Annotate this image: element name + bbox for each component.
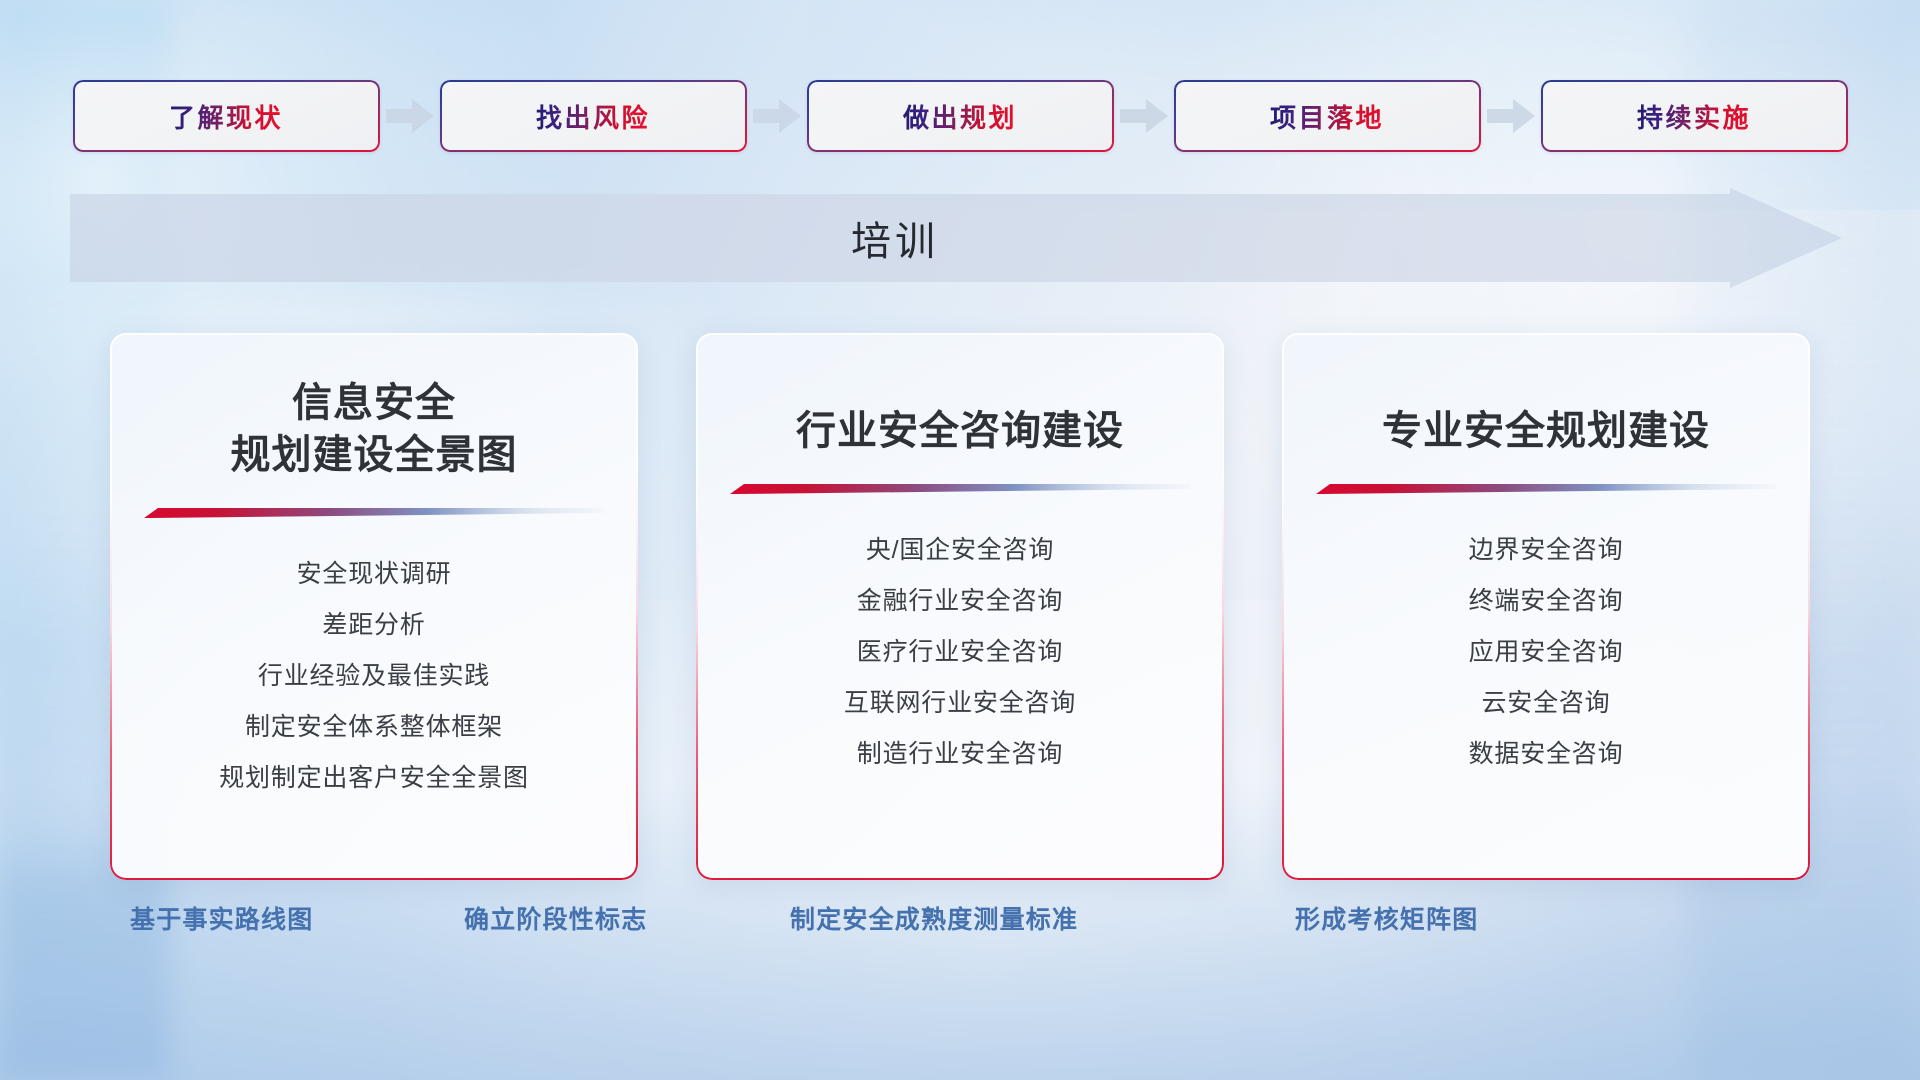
card-title-block: 专业安全规划建设 bbox=[1382, 359, 1710, 457]
card-item-list: 边界安全咨询 终端安全咨询 应用安全咨询 云安全咨询 数据安全咨询 bbox=[1308, 525, 1784, 862]
list-item: 制定安全体系整体框架 bbox=[245, 702, 503, 753]
list-item: 互联网行业安全咨询 bbox=[844, 678, 1076, 729]
card-title: 行业安全咨询建设 bbox=[796, 405, 1124, 457]
list-item: 金融行业安全咨询 bbox=[857, 576, 1063, 627]
step-box-2[interactable]: 找出风险 bbox=[440, 80, 747, 152]
list-item: 数据安全咨询 bbox=[1469, 729, 1624, 780]
step-box-4[interactable]: 项目落地 bbox=[1174, 80, 1481, 152]
step-label: 持续实施 bbox=[1637, 98, 1751, 135]
list-item: 差距分析 bbox=[322, 600, 425, 651]
step-label: 做出规划 bbox=[903, 98, 1017, 135]
step-box-3[interactable]: 做出规划 bbox=[807, 80, 1114, 152]
list-item: 终端安全咨询 bbox=[1469, 576, 1624, 627]
card-professional-security-planning[interactable]: 专业安全规划建设 bbox=[1282, 333, 1810, 880]
list-item: 边界安全咨询 bbox=[1469, 525, 1624, 576]
card-title: 信息安全 规划建设全景图 bbox=[231, 377, 518, 481]
footer-label-row: 基于事实路线图 确立阶段性标志 制定安全成熟度测量标准 形成考核矩阵图 bbox=[0, 900, 1920, 970]
list-item: 安全现状调研 bbox=[297, 549, 452, 600]
list-item: 云安全咨询 bbox=[1481, 678, 1610, 729]
card-divider bbox=[144, 505, 604, 519]
step-box-1[interactable]: 了解现状 bbox=[73, 80, 380, 152]
footer-label-4: 形成考核矩阵图 bbox=[1295, 900, 1478, 936]
step-box-5[interactable]: 持续实施 bbox=[1541, 80, 1848, 152]
step-label: 项目落地 bbox=[1270, 98, 1384, 135]
arrow-right-icon bbox=[380, 80, 440, 152]
card-row: 信息安全 规划建设全景图 bbox=[0, 333, 1920, 880]
list-item: 规划制定出客户安全全景图 bbox=[219, 753, 529, 804]
card-industry-security-consulting[interactable]: 行业安全咨询建设 bbox=[696, 333, 1224, 880]
footer-label-2: 确立阶段性标志 bbox=[464, 900, 647, 936]
card-title-block: 行业安全咨询建设 bbox=[796, 359, 1124, 457]
card-item-list: 安全现状调研 差距分析 行业经验及最佳实践 制定安全体系整体框架 规划制定出客户… bbox=[136, 549, 612, 862]
card-information-security-blueprint[interactable]: 信息安全 规划建设全景图 bbox=[110, 333, 638, 880]
list-item: 应用安全咨询 bbox=[1469, 627, 1624, 678]
list-item: 央/国企安全咨询 bbox=[866, 525, 1054, 576]
list-item: 行业经验及最佳实践 bbox=[258, 651, 490, 702]
card-item-list: 央/国企安全咨询 金融行业安全咨询 医疗行业安全咨询 互联网行业安全咨询 制造行… bbox=[722, 525, 1198, 862]
card-divider bbox=[730, 481, 1190, 495]
card-title-block: 信息安全 规划建设全景图 bbox=[231, 359, 518, 481]
step-label: 找出风险 bbox=[536, 98, 650, 135]
arrow-right-icon bbox=[1114, 80, 1174, 152]
footer-label-1: 基于事实路线图 bbox=[130, 900, 313, 936]
process-step-row: 了解现状 找出风险 做出规划 项目落地 持续实施 bbox=[0, 78, 1920, 154]
list-item: 医疗行业安全咨询 bbox=[857, 627, 1063, 678]
arrow-right-icon bbox=[747, 80, 807, 152]
footer-label-3: 制定安全成熟度测量标准 bbox=[790, 900, 1078, 936]
arrow-right-icon bbox=[1481, 80, 1541, 152]
training-banner: 培训 bbox=[70, 188, 1842, 288]
banner-label: 培训 bbox=[70, 188, 1720, 288]
list-item: 制造行业安全咨询 bbox=[857, 729, 1063, 780]
card-title: 专业安全规划建设 bbox=[1382, 405, 1710, 457]
step-label: 了解现状 bbox=[169, 98, 283, 135]
card-divider bbox=[1316, 481, 1776, 495]
